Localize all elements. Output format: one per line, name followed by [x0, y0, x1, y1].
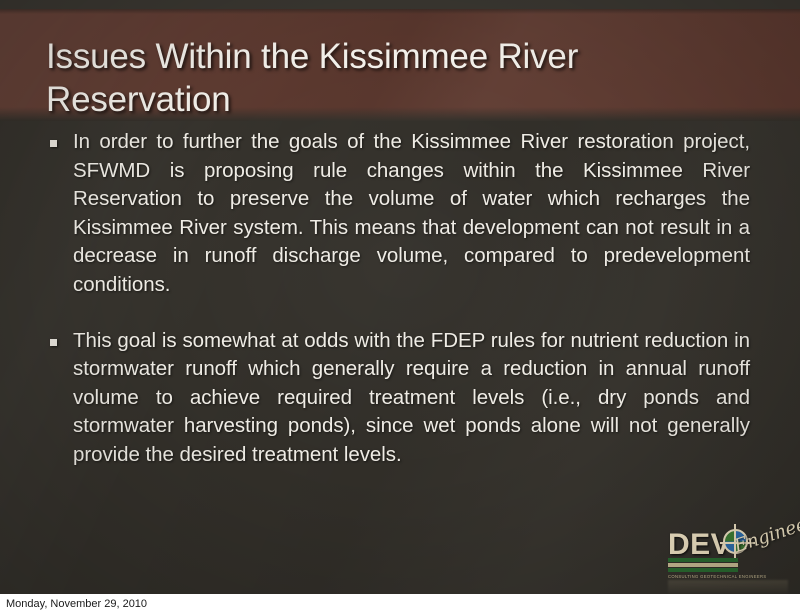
devo-engineering-logo: DEV CONSULTING GEOTECHNICAL ENGINEERS En… [660, 520, 796, 586]
bullet-item-text: This goal is somewhat at odds with the F… [73, 327, 750, 470]
slide-footer: Monday, November 29, 2010 [0, 594, 800, 616]
slide-top-strip [0, 0, 800, 9]
logo-rule-cream [668, 563, 738, 567]
bullet-item: This goal is somewhat at odds with the F… [0, 327, 800, 470]
bullet-item-text: In order to further the goals of the Kis… [73, 128, 750, 300]
logo-tagline: CONSULTING GEOTECHNICAL ENGINEERS [668, 574, 746, 579]
logo-rule-green-top [668, 558, 738, 562]
logo-script-word: Engineering [732, 502, 800, 557]
banner-top-fade [0, 9, 800, 14]
square-bullet-icon [50, 339, 57, 346]
presentation-slide: Issues Within the Kissimmee River Reserv… [0, 0, 800, 594]
logo-reflection [668, 580, 788, 594]
slide-body: In order to further the goals of the Kis… [0, 128, 800, 497]
logo-wordmark: DEV [668, 528, 731, 562]
bullet-item: In order to further the goals of the Kis… [0, 128, 800, 300]
footer-date: Monday, November 29, 2010 [6, 598, 147, 610]
slide-title: Issues Within the Kissimmee River Reserv… [46, 35, 746, 121]
square-bullet-icon [50, 140, 57, 147]
logo-rule-green-bottom [668, 568, 738, 572]
